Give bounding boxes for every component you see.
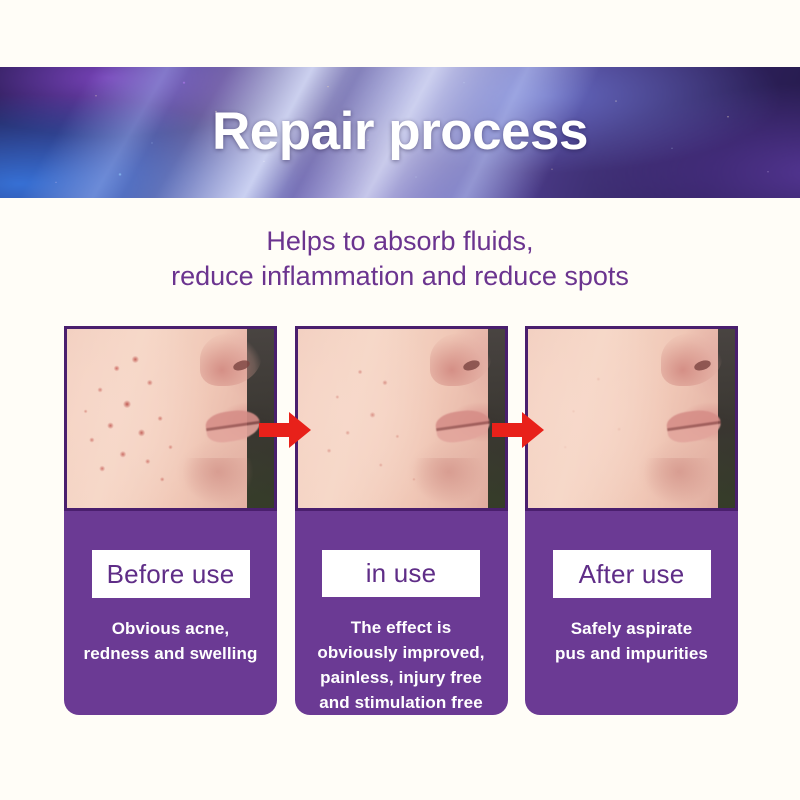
step-card-in-use: in use The effect is obviously improved,…	[295, 326, 508, 715]
desc-line: Safely aspirate	[532, 616, 732, 641]
after-use-photo-frame	[525, 326, 738, 511]
step-label-before-use: Before use	[92, 550, 250, 598]
process-steps-row: Before use Obvious acne, redness and swe…	[64, 326, 738, 715]
desc-line: painless, injury free	[301, 665, 501, 690]
before-use-photo-frame	[64, 326, 277, 511]
in-use-photo	[298, 329, 505, 508]
subtitle-line-1: Helps to absorb fluids,	[0, 224, 800, 259]
step-card-before-use: Before use Obvious acne, redness and swe…	[64, 326, 277, 715]
desc-line: and stimulation free	[301, 690, 501, 715]
subtitle-line-2: reduce inflammation and reduce spots	[0, 259, 800, 294]
acne-spots-layer	[67, 329, 274, 508]
step-description-after-use: Safely aspirate pus and impurities	[532, 616, 732, 666]
desc-line: pus and impurities	[532, 641, 732, 666]
after-use-photo	[528, 329, 735, 508]
header-banner: Repair process	[0, 67, 800, 198]
subtitle: Helps to absorb fluids, reduce inflammat…	[0, 224, 800, 294]
page-title: Repair process	[0, 67, 800, 198]
in-use-photo-frame	[295, 326, 508, 511]
step-description-before-use: Obvious acne, redness and swelling	[71, 616, 271, 666]
arrow-right-icon	[492, 412, 544, 448]
acne-spots-layer	[298, 329, 505, 508]
desc-line: Obvious acne,	[71, 616, 271, 641]
acne-spots-layer	[528, 329, 735, 508]
step-card-after-use: After use Safely aspirate pus and impuri…	[525, 326, 738, 715]
desc-line: The effect is	[301, 615, 501, 640]
before-use-photo	[67, 329, 274, 508]
desc-line: redness and swelling	[71, 641, 271, 666]
desc-line: obviously improved,	[301, 640, 501, 665]
step-label-in-use: in use	[322, 550, 480, 597]
arrow-right-icon	[259, 412, 311, 448]
step-label-after-use: After use	[553, 550, 711, 598]
step-description-in-use: The effect is obviously improved, painle…	[301, 615, 501, 715]
